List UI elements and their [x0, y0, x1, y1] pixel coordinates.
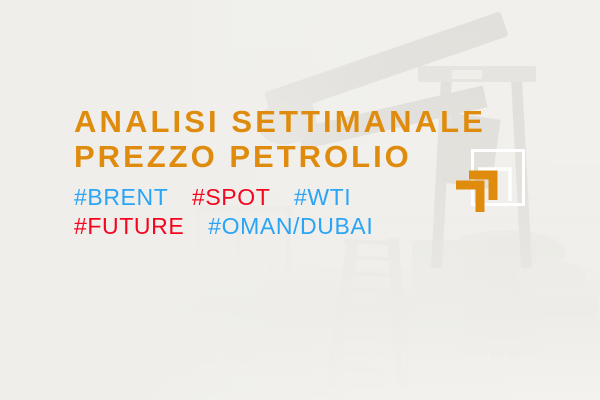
hashtag-row-1: #BRENT #SPOT #WTI	[74, 183, 486, 212]
hashtag-oman-dubai: #OMAN/DUBAI	[208, 213, 373, 239]
banner-canvas: ANALISI SETTIMANALE PREZZO PETROLIO #BRE…	[0, 0, 600, 400]
headline-line-2: PREZZO PETROLIO	[74, 139, 486, 174]
headline-line-1: ANALISI SETTIMANALE	[74, 104, 486, 139]
hashtag-future: #FUTURE	[74, 213, 184, 239]
hashtag-brent: #BRENT	[74, 184, 168, 210]
hashtag-wti: #WTI	[294, 184, 351, 210]
headline-block: ANALISI SETTIMANALE PREZZO PETROLIO #BRE…	[74, 104, 486, 241]
hashtag-spot: #SPOT	[192, 184, 270, 210]
hashtag-row-2: #FUTURE #OMAN/DUBAI	[74, 212, 486, 241]
